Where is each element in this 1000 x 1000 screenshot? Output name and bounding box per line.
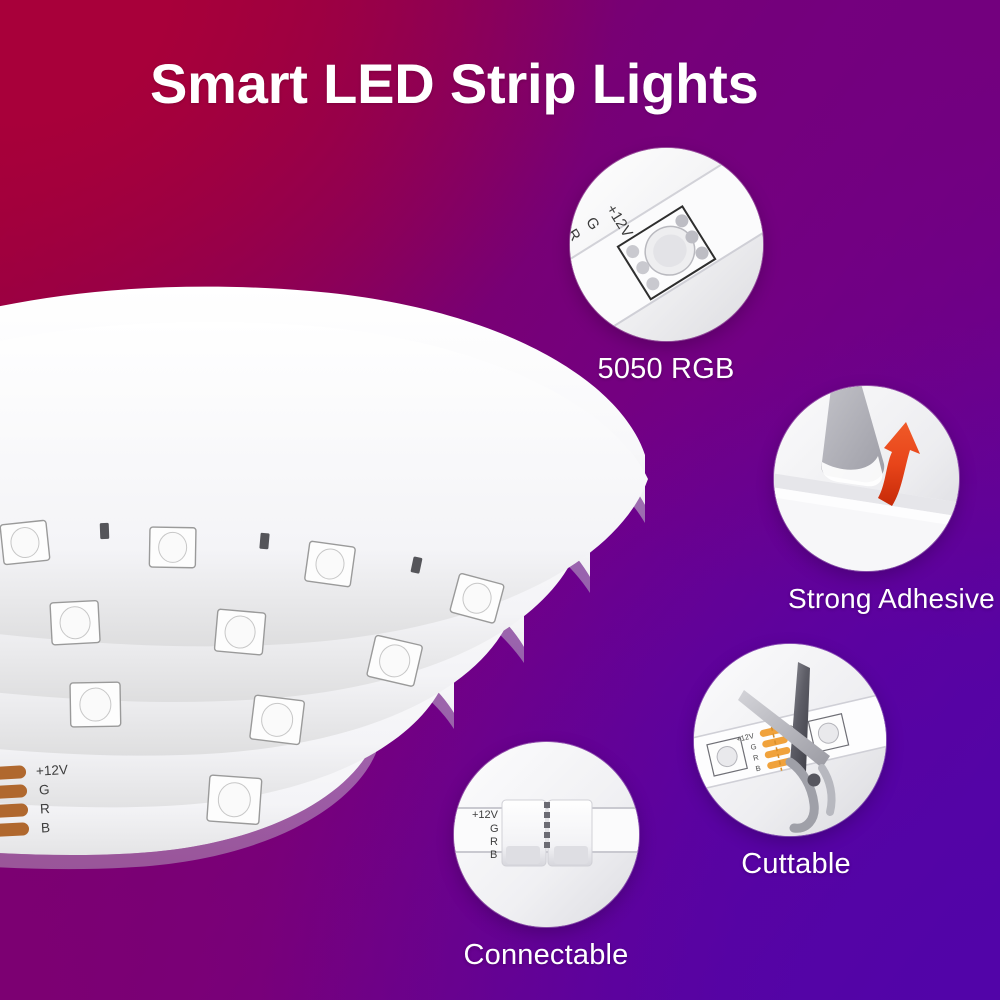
led-chip-closeup-icon: +12V G R <box>570 148 763 341</box>
svg-text:+12V: +12V <box>472 809 499 821</box>
svg-text:B: B <box>490 849 497 861</box>
svg-text:+12V: +12V <box>36 762 69 779</box>
feature-label: 5050 RGB <box>566 353 766 386</box>
feature-cuttable[interactable]: +12V G R B +12V G <box>692 644 888 881</box>
feature-strong-adhesive[interactable]: Strong Adhesive <box>768 386 964 615</box>
peeling-tape-arrow-icon <box>774 386 959 571</box>
feature-label: Connectable <box>452 939 640 972</box>
feature-connectable[interactable]: +12V G R B +12V G R B <box>452 742 640 972</box>
svg-text:G: G <box>490 823 499 835</box>
svg-text:R: R <box>40 801 51 817</box>
svg-text:G: G <box>39 782 50 798</box>
svg-text:R: R <box>490 836 498 848</box>
strip-connector-icon: +12V G R B +12V G R B <box>454 742 639 927</box>
page-title: Smart LED Strip Lights <box>150 55 759 114</box>
feature-5050-rgb[interactable]: +12V G R 5050 RGB <box>566 148 766 386</box>
feature-label: Cuttable <box>698 848 894 881</box>
scissors-cutting-strip-icon: +12V G R B +12V G <box>694 644 886 836</box>
product-marketing-image: Smart LED Strip Lights <box>0 0 1000 1000</box>
svg-text:B: B <box>41 820 51 835</box>
feature-label: Strong Adhesive <box>788 583 984 615</box>
